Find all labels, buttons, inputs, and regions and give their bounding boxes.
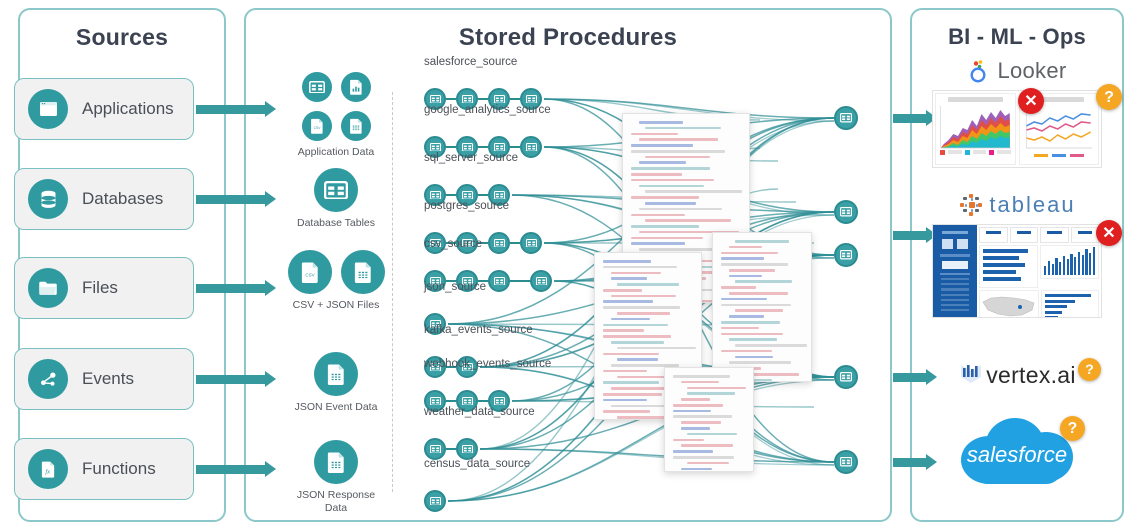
json-document-icon	[314, 352, 358, 396]
node-connector	[446, 400, 456, 403]
json-document-icon	[341, 111, 371, 141]
vertical-divider	[392, 92, 393, 492]
salesforce-wordmark: salesforce	[953, 442, 1081, 468]
data-group-2: CSV CSV + JSON Files	[286, 250, 386, 312]
data-group-caption: Application Data	[286, 146, 386, 159]
data-group-4: JSON Response Data	[286, 440, 386, 515]
status-badge-error-x: ✕	[1018, 88, 1044, 114]
looker-ring-icon	[967, 59, 992, 84]
event-share-icon	[28, 359, 68, 399]
node-connector	[446, 146, 456, 149]
window-icon	[28, 89, 68, 129]
lineage-node[interactable]	[456, 438, 478, 460]
arrow-source-to-data-1	[196, 191, 276, 207]
tableau-mark-icon	[958, 192, 984, 218]
lineage-source-name: weather_data_source	[424, 406, 535, 418]
csv-document-icon: CSV	[288, 250, 332, 294]
data-group-caption: JSON Response Data	[286, 489, 386, 515]
code-card-2	[712, 232, 812, 382]
lineage-node[interactable]	[488, 232, 510, 254]
node-connector	[446, 448, 456, 451]
node-connector	[478, 194, 488, 197]
chart-document-icon	[341, 72, 371, 102]
sources-panel-title: Sources	[20, 24, 224, 51]
output-node-1[interactable]	[834, 200, 858, 224]
folder-icon	[28, 268, 68, 308]
svg-text:CSV: CSV	[313, 126, 321, 130]
bi-item-salesforce[interactable]: salesforce?	[910, 412, 1124, 486]
bi-item-vertex-ai[interactable]: vertex.ai?	[910, 360, 1124, 390]
lineage-source-name: kafka_events_source	[424, 324, 533, 336]
source-card-label: Databases	[82, 189, 163, 209]
source-card-databases[interactable]: Databases	[14, 168, 194, 230]
node-connector	[510, 242, 520, 245]
status-badge-warning-question: ?	[1078, 358, 1101, 381]
lineage-node[interactable]	[520, 136, 542, 158]
arrow-source-to-data-2	[196, 280, 276, 296]
bi-item-tableau[interactable]: tableau	[910, 190, 1124, 318]
code-card-3	[664, 367, 754, 472]
lineage-node[interactable]	[424, 438, 446, 460]
output-node-0[interactable]	[834, 106, 858, 130]
lineage-source-name: csv_source	[424, 238, 482, 250]
node-connector	[510, 146, 520, 149]
arrow-source-to-data-4	[196, 461, 276, 477]
vertex-ai-wordmark: vertex.ai	[986, 362, 1076, 389]
svg-text:fx: fx	[45, 468, 50, 475]
lineage-source-name: postgres_source	[424, 200, 509, 212]
source-card-events[interactable]: Events	[14, 348, 194, 410]
source-card-applications[interactable]: Applications	[14, 78, 194, 140]
node-connector	[478, 146, 488, 149]
lineage-source-name: sql_server_source	[424, 152, 518, 164]
data-group-1: Database Tables	[286, 168, 386, 230]
node-connector	[510, 280, 530, 283]
json-document-icon	[341, 250, 385, 294]
csv-document-icon: CSV	[302, 111, 332, 141]
lineage-node[interactable]	[520, 232, 542, 254]
arrow-source-to-data-0	[196, 101, 276, 117]
database-icon	[28, 179, 68, 219]
status-badge-error-x: ✕	[1096, 220, 1122, 246]
output-node-2[interactable]	[834, 243, 858, 267]
data-group-caption: CSV + JSON Files	[286, 299, 386, 312]
output-node-4[interactable]	[834, 450, 858, 474]
lineage-source-name: json_source	[424, 281, 486, 293]
bi-panel-title: BI - ML - Ops	[912, 24, 1122, 50]
lineage-node[interactable]	[488, 270, 510, 292]
json-document-icon	[314, 440, 358, 484]
lineage-source-name: salesforce_source	[424, 56, 517, 68]
lineage-node[interactable]	[424, 490, 446, 512]
data-group-caption: JSON Event Data	[286, 401, 386, 414]
svg-text:CSV: CSV	[305, 272, 314, 277]
lineage-source-name: census_data_source	[424, 458, 530, 470]
source-card-label: Applications	[82, 99, 174, 119]
table-icon	[302, 72, 332, 102]
table-icon	[314, 168, 358, 212]
stored-procedures-panel-title: Stored Procedures	[246, 24, 890, 52]
looker-wordmark: Looker	[997, 58, 1066, 84]
data-group-0: CSV Application Data	[286, 72, 386, 159]
node-connector	[510, 98, 520, 101]
source-card-label: Functions	[82, 459, 156, 479]
node-connector	[446, 194, 456, 197]
lineage-source-name: webhook_events_source	[424, 358, 551, 370]
looker-logo: Looker	[910, 56, 1124, 86]
source-card-files[interactable]: Files	[14, 257, 194, 319]
data-group-caption: Database Tables	[286, 217, 386, 230]
tableau-wordmark: tableau	[989, 192, 1075, 218]
node-connector	[478, 400, 488, 403]
function-document-icon: fx	[28, 449, 68, 489]
data-group-3: JSON Event Data	[286, 352, 386, 414]
status-badge-warning-question: ?	[1060, 416, 1085, 441]
source-card-label: Events	[82, 369, 134, 389]
lineage-node[interactable]	[530, 270, 552, 292]
lineage-source-name: google_analytics_source	[424, 104, 551, 116]
node-connector	[478, 98, 488, 101]
tableau-logo: tableau	[910, 190, 1124, 220]
diagram-canvas: Sources Stored Procedures BI - ML - Ops …	[0, 0, 1140, 530]
node-connector	[446, 98, 456, 101]
vertex-ai-mark-icon	[958, 360, 984, 391]
source-card-functions[interactable]: fxFunctions	[14, 438, 194, 500]
bi-item-looker[interactable]: Looker	[910, 56, 1124, 168]
status-badge-warning-question: ?	[1096, 84, 1122, 110]
arrow-source-to-data-3	[196, 371, 276, 387]
source-card-label: Files	[82, 278, 118, 298]
output-node-3[interactable]	[834, 365, 858, 389]
